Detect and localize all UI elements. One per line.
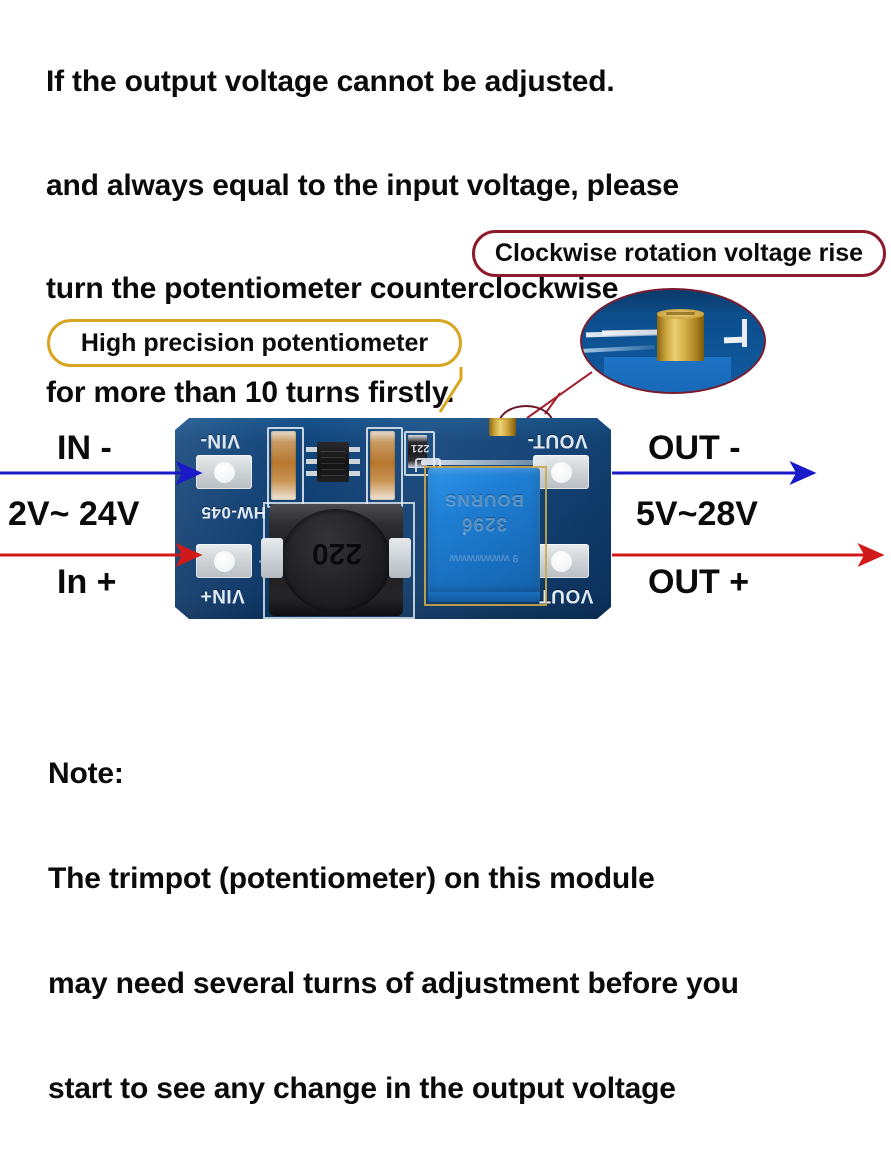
trimpot-model-label: 3296 <box>436 512 532 534</box>
pad-vin-positive <box>196 544 252 578</box>
inset-screw-slot <box>666 312 695 316</box>
ic-pin <box>349 447 360 452</box>
silkscreen-part-number: HW-045 <box>201 502 266 522</box>
pad-hole <box>214 551 235 572</box>
label-output-negative: OUT - <box>648 429 741 468</box>
bottom-note-text: Note: The trimpot (potentiometer) on thi… <box>48 686 739 1176</box>
ic-pin <box>306 459 317 464</box>
silkscreen-vin-negative: VIN- <box>200 429 240 451</box>
trimpot-potentiometer[interactable]: BOURNS 3296 9 wwwwwww <box>428 468 540 597</box>
inductor-terminal-right <box>389 538 411 578</box>
capacitor-2 <box>370 431 395 500</box>
silk-dot <box>259 560 262 563</box>
pad-hole <box>551 551 572 572</box>
pad-hole <box>551 462 572 483</box>
silkscreen-vin-positive: VIN+ <box>200 584 245 606</box>
ic-pin <box>349 471 360 476</box>
bottom-note-line-2: The trimpot (potentiometer) on this modu… <box>48 861 739 896</box>
ic-pin <box>349 459 360 464</box>
trimpot-brand-label: BOURNS <box>436 490 532 510</box>
inset-right-pad-2 <box>742 319 747 348</box>
potentiometer-zoom-inset <box>580 288 766 394</box>
bottom-note-line-4: start to see any change in the output vo… <box>48 1071 739 1106</box>
label-output-range: 5V~28V <box>636 495 758 534</box>
inductor-marking: 220 <box>297 536 377 570</box>
ic-pin <box>306 471 317 476</box>
switching-ic <box>317 442 349 482</box>
inductor-terminal-left <box>261 538 283 578</box>
callout-clockwise-label: Clockwise rotation voltage rise <box>495 239 863 268</box>
label-output-positive: OUT + <box>648 563 749 602</box>
bottom-note-line-3: may need several turns of adjustment bef… <box>48 966 739 1001</box>
inset-brass-screw-body <box>657 312 704 361</box>
bottom-note-line-1: Note: <box>48 756 739 791</box>
board-top-edge-strip <box>421 460 545 465</box>
ic-pin <box>306 447 317 452</box>
pad-vin-negative <box>196 455 252 489</box>
label-input-negative: IN - <box>57 429 112 468</box>
capacitor-1 <box>271 431 296 500</box>
trimpot-base-lip <box>428 592 540 602</box>
label-input-range: 2V~ 24V <box>8 495 139 534</box>
top-instruction-line-1: If the output voltage cannot be adjusted… <box>46 65 679 100</box>
callout-potentiometer-label: High precision potentiometer <box>81 329 428 358</box>
inset-right-pad <box>724 337 742 344</box>
boost-converter-board: VIN- VIN+ HW-045 VOUT- VOUT+ 221 5534 <box>175 418 611 619</box>
top-instruction-line-2: and always equal to the input voltage, p… <box>46 169 679 204</box>
ic-marking <box>321 448 345 476</box>
inset-board-front-face <box>604 357 731 392</box>
pad-hole <box>214 462 235 483</box>
callout-clockwise-rotation: Clockwise rotation voltage rise <box>472 230 886 277</box>
callout-high-precision-potentiometer: High precision potentiometer <box>47 319 462 367</box>
inset-left-lead <box>602 329 660 335</box>
trimpot-sub-label: 9 wwwwwww <box>434 552 534 564</box>
silk-dot <box>463 532 466 535</box>
label-input-positive: In + <box>57 563 117 602</box>
silkscreen-vout-negative: VOUT- <box>527 429 588 451</box>
resistor-small-marking: 221 <box>411 442 429 454</box>
poster-canvas: If the output voltage cannot be adjusted… <box>0 0 891 840</box>
